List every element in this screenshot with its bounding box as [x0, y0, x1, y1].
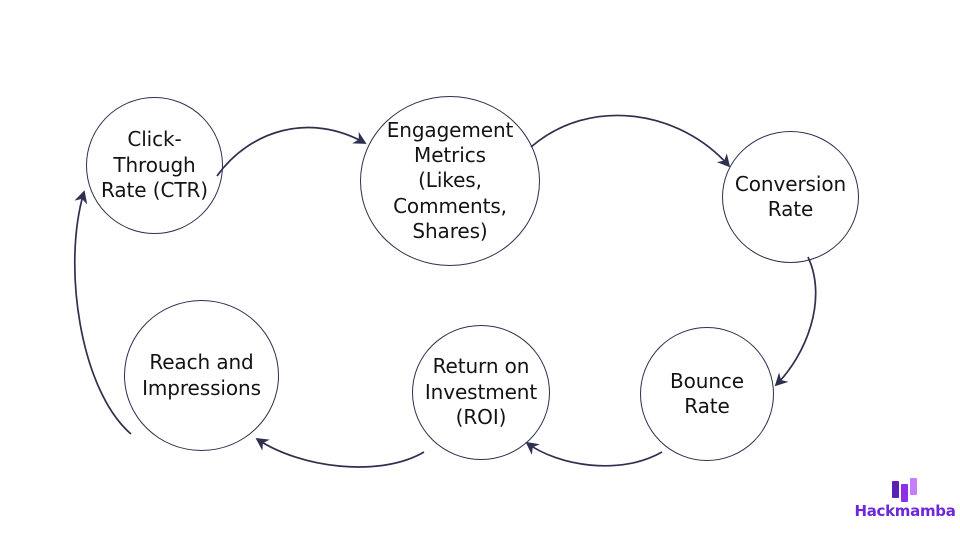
logo-bar-right — [910, 478, 917, 495]
edge-reach-to-ctr — [75, 192, 131, 434]
node-conversion-rate[interactable]: Conversion Rate — [722, 131, 859, 263]
logo-bar-middle — [901, 484, 908, 502]
edge-engagement-to-conversion — [531, 115, 729, 166]
logo-bar-left — [892, 481, 899, 498]
hackmamba-logo: Hackmamba — [862, 478, 948, 530]
edge-conversion-to-bounce — [776, 257, 816, 385]
node-engagement-metrics[interactable]: Engagement Metrics (Likes, Comments, Sha… — [360, 96, 540, 266]
diagram-canvas: Click- Through Rate (CTR) Engagement Met… — [0, 0, 960, 540]
logo-wordmark: Hackmamba — [854, 504, 955, 519]
node-label-reach-and-impressions: Reach and Impressions — [125, 350, 278, 401]
hackmamba-bars-icon — [889, 478, 921, 502]
node-label-engagement-metrics: Engagement Metrics (Likes, Comments, Sha… — [361, 118, 539, 245]
node-return-on-investment[interactable]: Return on Investment (ROI) — [412, 325, 550, 460]
node-label-conversion-rate: Conversion Rate — [723, 172, 858, 223]
node-reach-and-impressions[interactable]: Reach and Impressions — [124, 300, 279, 451]
node-label-return-on-investment: Return on Investment (ROI) — [413, 354, 549, 430]
node-click-through-rate[interactable]: Click- Through Rate (CTR) — [86, 97, 223, 234]
node-label-click-through-rate: Click- Through Rate (CTR) — [87, 127, 222, 203]
node-label-bounce-rate: Bounce Rate — [641, 369, 773, 420]
edge-ctr-to-engagement — [217, 128, 365, 176]
edge-bounce-to-roi — [527, 443, 662, 466]
node-bounce-rate[interactable]: Bounce Rate — [640, 327, 774, 461]
edge-roi-to-reach — [257, 439, 424, 467]
